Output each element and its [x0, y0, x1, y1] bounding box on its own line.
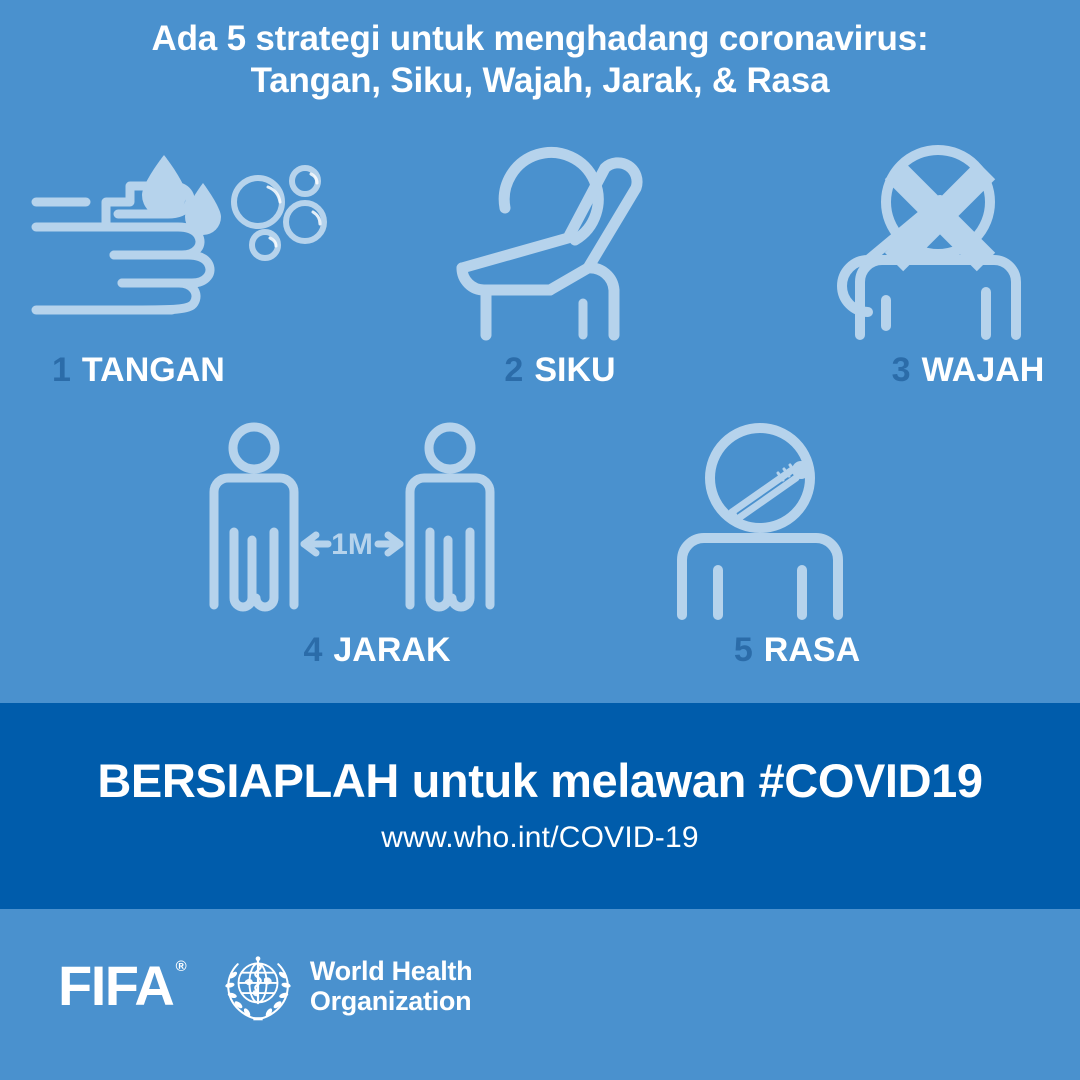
- step-number: 5: [734, 631, 753, 669]
- step-caption: 5RASA: [620, 630, 940, 670]
- step-label: WAJAH: [922, 351, 1045, 389]
- step-label: JARAK: [333, 631, 450, 669]
- fifa-logo: FIFA ®: [58, 958, 185, 1014]
- cough-into-elbow-icon: [400, 140, 720, 335]
- step-caption: 4JARAK: [192, 630, 512, 670]
- who-wordmark-line-2: Organization: [310, 986, 472, 1016]
- logo-strip: FIFA ®: [58, 947, 472, 1025]
- who-logo: World Health Organization: [219, 947, 472, 1025]
- registered-trademark-icon: ®: [175, 958, 185, 976]
- physical-distance-icon: 1M: [192, 420, 512, 615]
- who-wordmark-line-1: World Health: [310, 956, 472, 986]
- fifa-wordmark: FIFA: [58, 958, 173, 1014]
- step-item-rasa: 5RASA: [620, 420, 940, 670]
- thermometer-feeling-unwell-icon: [620, 420, 940, 615]
- step-label: TANGAN: [82, 351, 225, 389]
- footer-logo-bar: FIFA ®: [0, 909, 1080, 1080]
- do-not-touch-face-icon: [790, 140, 1080, 335]
- step-caption: 1TANGAN: [22, 350, 342, 390]
- step-item-jarak: 1M 4JARAK: [192, 420, 512, 670]
- step-number: 4: [303, 631, 322, 669]
- step-label: SIKU: [534, 351, 615, 389]
- banner-headline: BERSIAPLAH untuk melawan #COVID19: [0, 753, 1080, 808]
- step-number: 3: [892, 351, 911, 389]
- step-item-tangan: 1TANGAN: [22, 140, 342, 390]
- page-title: Ada 5 strategi untuk menghadang coronavi…: [0, 18, 1080, 102]
- step-label: RASA: [764, 631, 860, 669]
- poster-canvas: Ada 5 strategi untuk menghadang coronavi…: [0, 0, 1080, 1080]
- step-item-wajah: 3WAJAH: [790, 140, 1080, 390]
- step-caption: 3WAJAH: [790, 350, 1080, 390]
- steps-row-bottom: 1M 4JARAK: [0, 420, 1080, 670]
- title-line-1: Ada 5 strategi untuk menghadang coronavi…: [0, 18, 1080, 60]
- steps-row-top: 1TANGAN: [0, 140, 1080, 390]
- step-number: 2: [504, 351, 523, 389]
- step-caption: 2SIKU: [400, 350, 720, 390]
- who-emblem-icon: [219, 947, 297, 1025]
- step-number: 1: [52, 351, 71, 389]
- who-wordmark: World Health Organization: [310, 956, 472, 1016]
- call-to-action-banner: BERSIAPLAH untuk melawan #COVID19 www.wh…: [0, 703, 1080, 909]
- step-item-siku: 2SIKU: [400, 140, 720, 390]
- title-line-2: Tangan, Siku, Wajah, Jarak, & Rasa: [0, 60, 1080, 102]
- distance-value-text: 1M: [331, 528, 373, 561]
- banner-url[interactable]: www.who.int/COVID-19: [0, 821, 1080, 855]
- hand-washing-icon: [22, 140, 342, 335]
